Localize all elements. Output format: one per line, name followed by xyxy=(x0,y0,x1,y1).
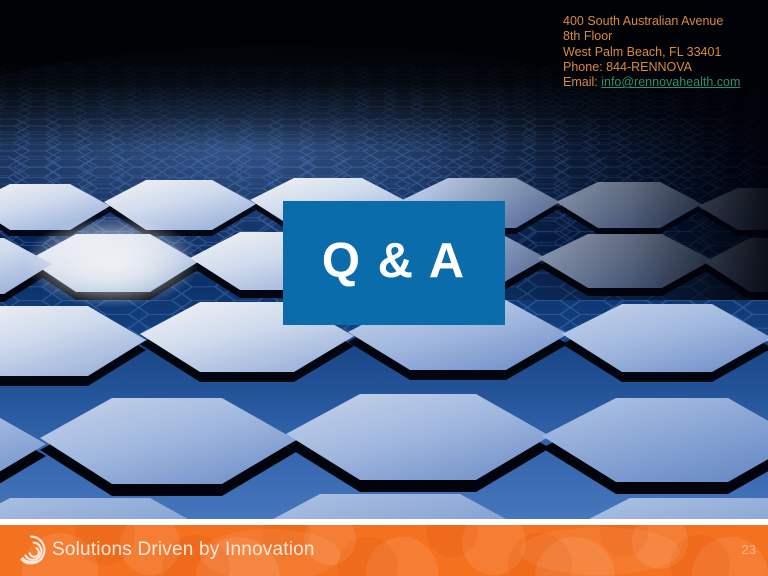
rennova-swirl-logo xyxy=(15,534,47,566)
qa-callout-label: Q & A xyxy=(322,237,466,290)
contact-email-row: Email: info@rennovahealth.com xyxy=(563,75,763,90)
contact-address-line-2: 8th Floor xyxy=(563,29,763,44)
slide: Q & A 400 South Australian Avenue 8th Fl… xyxy=(0,0,768,576)
page-number: 23 xyxy=(742,542,756,558)
contact-phone: Phone: 844-RENNOVA xyxy=(563,60,763,75)
contact-email-label: Email: xyxy=(563,75,598,89)
footer-tagline: Solutions Driven by Innovation xyxy=(52,538,315,562)
contact-address-line-3: West Palm Beach, FL 33401 xyxy=(563,45,763,60)
contact-address-line-1: 400 South Australian Avenue xyxy=(563,14,763,29)
contact-block: 400 South Australian Avenue 8th Floor We… xyxy=(563,14,763,90)
contact-email-link[interactable]: info@rennovahealth.com xyxy=(601,75,740,89)
qa-callout-box: Q & A xyxy=(283,201,505,325)
